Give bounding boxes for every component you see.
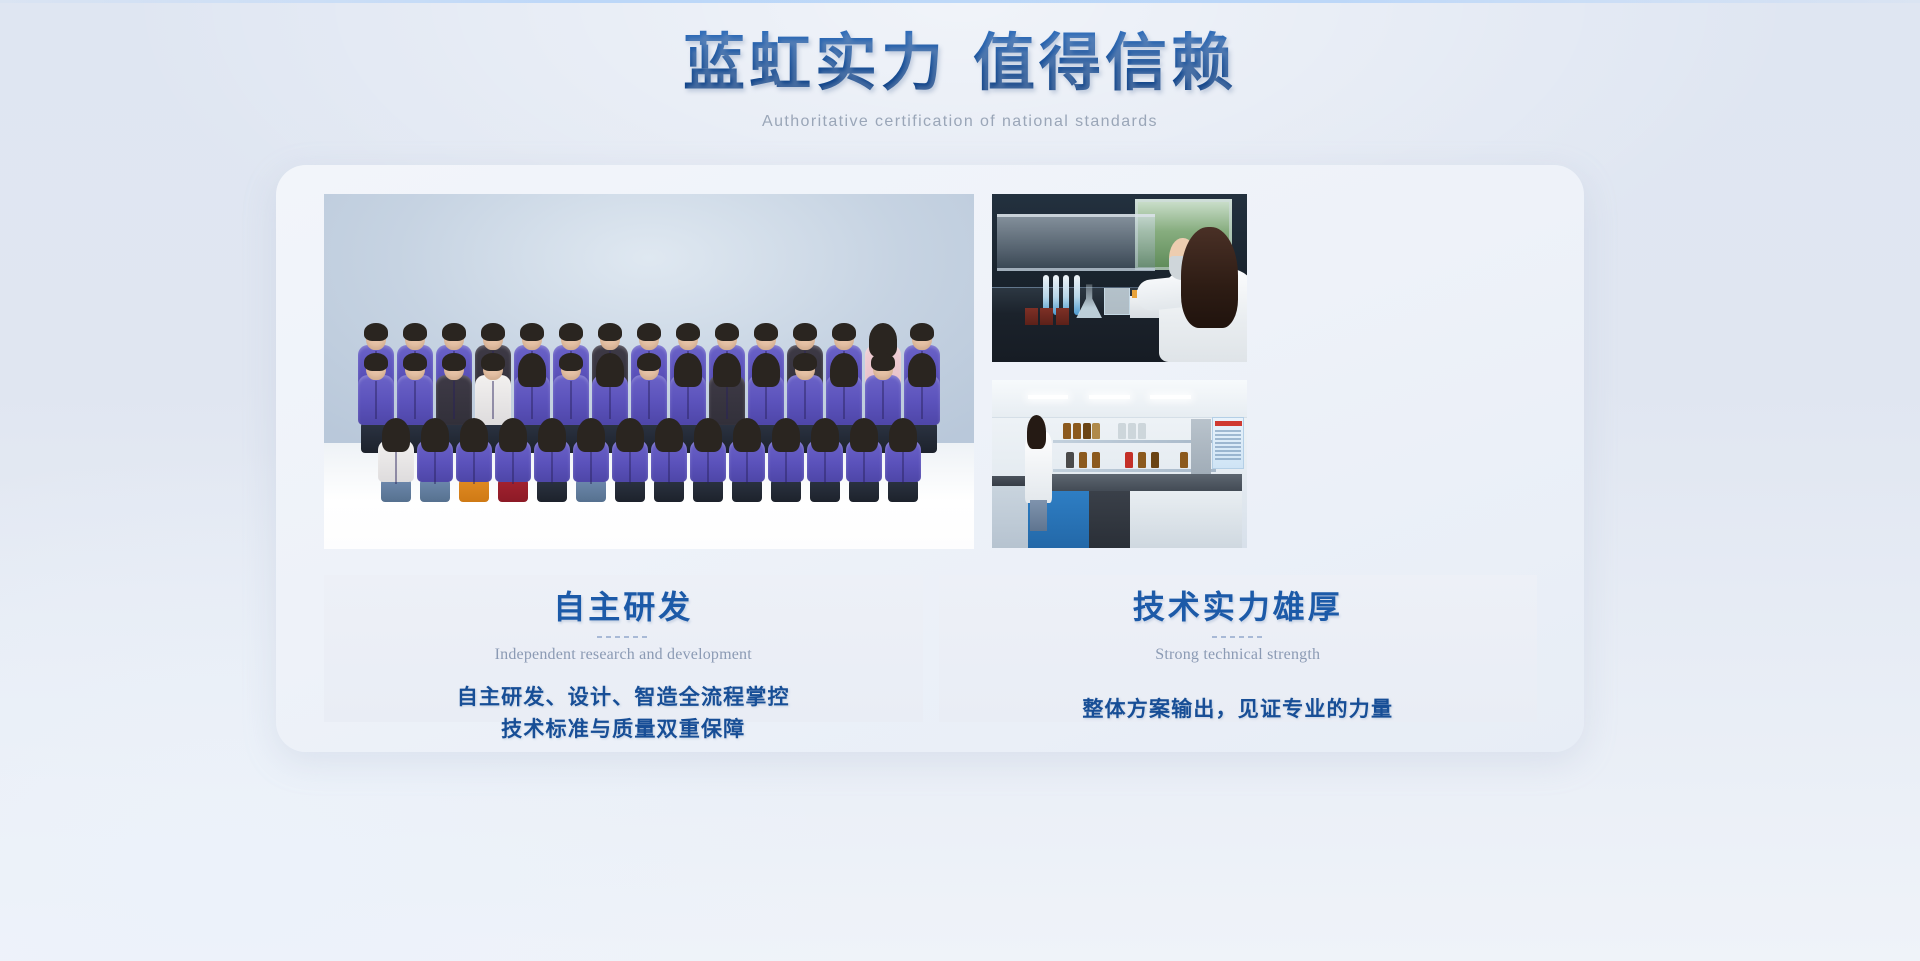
feature-card-body: 整体方案输出，见证专业的力量 xyxy=(939,694,1538,726)
top-accent-line xyxy=(0,0,1920,3)
page-header: 蓝虹实力值得信赖 Authoritative certification of … xyxy=(0,30,1920,131)
reagent-bottle-icon xyxy=(1040,308,1053,325)
reagent-bottle-icon xyxy=(1056,308,1069,325)
feature-card-body-line-1: 整体方案输出，见证专业的力量 xyxy=(939,694,1538,726)
lab2-island-bench-top xyxy=(1028,474,1242,491)
feature-card-body: 自主研发、设计、智造全流程掌控 技术标准与质量双重保障 xyxy=(324,682,923,746)
feature-card-subtitle: Strong technical strength xyxy=(939,646,1538,664)
company-team-group-photo xyxy=(324,194,974,549)
side-photo-column xyxy=(992,194,1247,549)
page-title: 蓝虹实力值得信赖 xyxy=(0,30,1920,99)
dashed-divider-icon xyxy=(597,636,649,638)
feature-card-body-line-2: 技术标准与质量双重保障 xyxy=(324,714,923,746)
pipette-icon xyxy=(1074,275,1080,315)
lab2-dark-cabinet xyxy=(1089,491,1130,548)
feature-card-list: 自主研发 Independent research and developmen… xyxy=(324,575,1537,722)
laboratory-room-overview xyxy=(992,380,1247,548)
group-photo-front-row xyxy=(324,421,974,502)
ceiling-light-icon xyxy=(1150,395,1191,399)
media-gallery xyxy=(324,194,1537,549)
lab-technician-figure xyxy=(1135,221,1247,362)
page-subtitle: Authoritative certification of national … xyxy=(0,113,1920,131)
feature-card-body-line-1: 自主研发、设计、智造全流程掌控 xyxy=(324,682,923,714)
lab-technician-pipetting xyxy=(992,194,1247,362)
feature-card-title: 自主研发 xyxy=(324,587,923,627)
safety-notice-poster xyxy=(1212,417,1245,469)
dashed-divider-icon xyxy=(1212,636,1264,638)
feature-card-independent-rd[interactable]: 自主研发 Independent research and developmen… xyxy=(324,575,923,722)
reagent-bottle-icon xyxy=(1025,308,1038,325)
feature-card-subtitle: Independent research and development xyxy=(324,646,923,664)
beaker-icon xyxy=(1104,288,1130,315)
page-title-part1: 蓝虹实力 xyxy=(683,30,947,98)
lab2-researcher-figure xyxy=(1023,417,1056,531)
ceiling-light-icon xyxy=(1089,395,1130,399)
page-background: 蓝虹实力值得信赖 Authoritative certification of … xyxy=(0,0,1920,961)
content-panel: 自主研发 Independent research and developmen… xyxy=(276,165,1584,752)
page-title-part2: 值得信赖 xyxy=(973,30,1237,98)
lab1-overhead-shelf xyxy=(997,214,1155,270)
feature-card-technical-strength[interactable]: 技术实力雄厚 Strong technical strength 整体方案输出，… xyxy=(939,575,1538,722)
feature-card-title: 技术实力雄厚 xyxy=(939,587,1538,627)
ceiling-light-icon xyxy=(1028,395,1069,399)
